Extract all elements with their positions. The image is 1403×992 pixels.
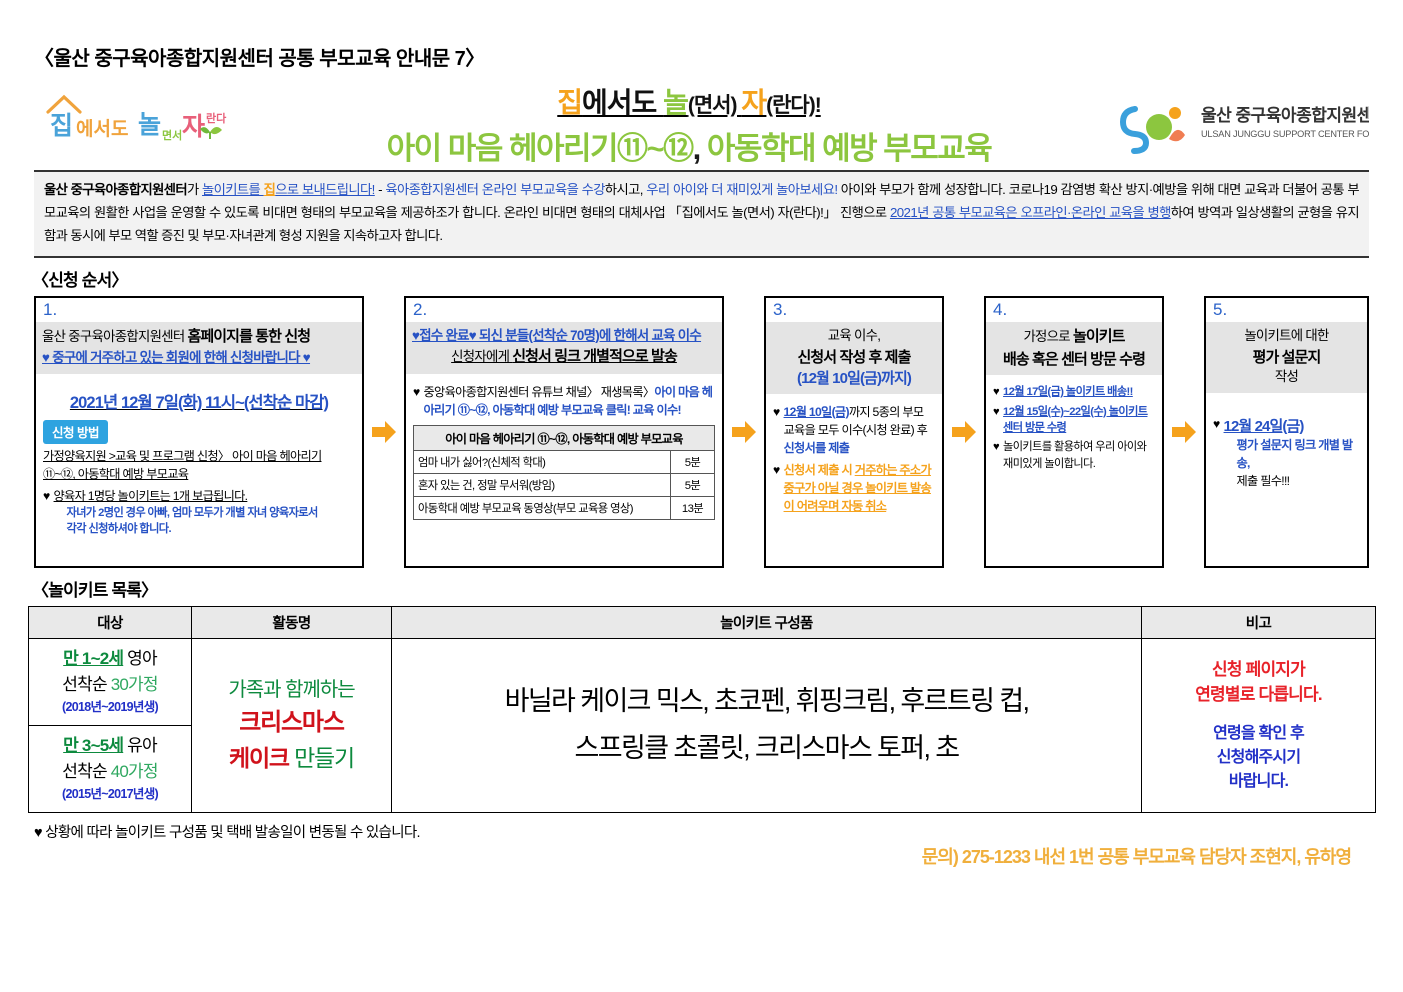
step-4-head-line1: 가정으로 놀이키트 — [992, 326, 1156, 349]
headline-line2: 아이 마음 헤아리기⑪~⑫, 아동학대 예방 부모교육 — [259, 123, 1119, 168]
step-1-number: 1. — [36, 298, 362, 322]
activity-line1: 가족과 함께하는 — [198, 675, 385, 705]
headline-home: 집 — [557, 87, 582, 118]
kit-components-cell: 바닐라 케이크 믹스, 초코펜, 휘핑크림, 후르트링 컵, 스프링클 초콜릿,… — [392, 638, 1142, 812]
activity-line3: 케이크 만들기 — [198, 741, 385, 776]
kit-col-notes: 비고 — [1142, 606, 1376, 638]
step-1-bullet-1-sub2: 각각 신청하셔야 합니다. — [54, 521, 355, 537]
footer: ♥ 상황에 따라 놀이키트 구성품 및 택배 발송일이 변동될 수 있습니다. … — [34, 821, 1369, 869]
main-title-block: 집에서도 놀(면서) 자(란다)! 아이 마음 헤아리기⑪~⑫, 아동학대 예방… — [249, 81, 1119, 168]
step-2: 2. ♥접수 완료♥ 되신 분들(선착순 70명)에 한해서 교육 이수 신청자… — [404, 296, 724, 568]
step-4-header: 가정으로 놀이키트 배송 혹은 센터 방문 수령 — [986, 322, 1162, 376]
intro-center-name: 울산 중구육아종합지원센터 — [44, 182, 187, 197]
step-4-bullet-3: ♥ 놀이키트를 활용하여 우리 아이와 재미있게 놀이합니다. — [993, 439, 1155, 471]
apply-method-badge: 신청 방법 — [43, 420, 108, 444]
svg-text:집: 집 — [50, 112, 73, 140]
note-blue-line1: 연령을 확인 후 — [1148, 722, 1369, 746]
svg-text:에서도: 에서도 — [76, 118, 128, 140]
heart-icon: ♥ — [413, 383, 420, 401]
document-page: 〈울산 중구육아종합지원센터 공통 부모교육 안내문 7〉 집 에서도 놀 면서… — [0, 0, 1403, 992]
step-2-number: 2. — [406, 298, 722, 322]
step-3-bullet-1: ♥ 12월 10일(금)까지 5종의 부모 교육을 모두 이수(시청 완료) 후… — [773, 403, 935, 458]
table-row: 아동학대 예방 부모교육 동영상(부모 교육용 영상) 13분 — [414, 496, 715, 519]
step-2-head-line2: 신청자에게 신청서 링크 개별적으로 발송 — [412, 346, 716, 369]
steps-row: 1. 울산 중구육아종합지원센터 홈페이지를 통한 신청 ♥ 중구에 거주하고 … — [34, 296, 1369, 568]
step-5-required-note: 제출 필수!!! — [1224, 472, 1360, 490]
step-3-header: 교육 이수, 신청서 작성 후 제출 (12월 10일(금)까지) — [766, 322, 942, 394]
intro-paragraph: 울산 중구육아종합지원센터가 놀이키트를 집으로 보내드립니다! - 육아종합지… — [34, 170, 1369, 258]
campaign-logo: 집 에서도 놀 면서 자 란다 — [34, 88, 249, 160]
svg-text:자: 자 — [182, 113, 205, 141]
step-4-body: ♥ 12월 17일(금) 놀이키트 배송!! ♥ 12월 15일(수)~22일(… — [986, 375, 1162, 566]
headline-topic-1: 아이 마음 헤아리기⑪~⑫ — [387, 131, 693, 166]
steps-heading: 〈신청 순서〉 — [32, 266, 1375, 291]
kit-components-line1: 바닐라 케이크 믹스, 초코펜, 휘핑크림, 후르트링 컵, — [400, 678, 1133, 725]
table-row: 만 1~2세 영아 선착순 30가정 (2018년~2019년생) 가족과 함께… — [29, 638, 1376, 725]
step-5-date: 12월 24일(금) — [1224, 418, 1304, 435]
step-2-header: ♥접수 완료♥ 되신 분들(선착순 70명)에 한해서 교육 이수 신청자에게 … — [406, 322, 722, 375]
heart-icon: ♥ — [43, 487, 50, 505]
step-5-number: 5. — [1206, 298, 1367, 322]
arrow-1-to-2 — [364, 296, 404, 568]
step-4: 4. 가정으로 놀이키트 배송 혹은 센터 방문 수령 ♥ 12월 17일(금)… — [984, 296, 1164, 568]
table-header-row: 아이 마음 헤아리기 ⑪~⑫, 아동학대 예방 부모교육 — [414, 425, 715, 450]
step-5-head-line1: 놀이키트에 대한 — [1212, 326, 1361, 346]
step-1-head-line2: ♥ 중구에 거주하고 있는 회원에 한해 신청바랍니다 ♥ — [42, 348, 356, 368]
arrow-4-to-5 — [1164, 296, 1204, 568]
kit-components-line2: 스프링클 초콜릿, 크리스마스 토퍼, 초 — [400, 725, 1133, 772]
heart-icon: ♥ — [993, 439, 999, 456]
step-5-head-line2: 평가 설문지 — [1212, 346, 1361, 367]
step-1-date: 2021년 12월 7일(화) 11시~(선착순 마감) — [43, 389, 355, 413]
activity-line2: 크리스마스 — [198, 705, 385, 741]
step-3-body: ♥ 12월 10일(금)까지 5종의 부모 교육을 모두 이수(시청 완료) 후… — [766, 394, 942, 566]
heart-icon: ♥ — [773, 403, 780, 421]
step-3-head-line2: 신청서 작성 후 제출 — [772, 346, 936, 367]
step-3-deadline: 12월 10일(금) — [784, 405, 849, 419]
age-2-quota: 40가정 — [111, 762, 158, 781]
step-1-head-line1: 울산 중구육아종합지원센터 홈페이지를 통한 신청 — [42, 326, 356, 349]
video-name: 엄마 내가 싫어?(신체적 학대) — [414, 450, 671, 473]
step-1-bullet-1: ♥ 양육자 1명당 놀이키트는 1개 보급됩니다. 자녀가 2명인 경우 아빠,… — [43, 487, 355, 538]
center-logo: 울산 중구육아종합지원센터 ULSAN JUNGGU SUPPORT CENTE… — [1119, 93, 1369, 155]
note-red-line2: 연령별로 다릅니다. — [1148, 682, 1369, 708]
logo-en-text: ULSAN JUNGGU SUPPORT CENTER FOR CHILDCAR… — [1201, 129, 1369, 139]
svg-text:란다: 란다 — [206, 111, 227, 125]
note-red-line1: 신청 페이지가 — [1148, 657, 1369, 683]
step-3-head-line1: 교육 이수, — [772, 326, 936, 346]
step-4-head-line2: 배송 혹은 센터 방문 수령 — [992, 348, 1156, 369]
headline-grow: 자 — [741, 87, 766, 118]
step-1-path-line1: 가정양육지원 >교육 및 프로그램 신청〉 아이 마음 헤아리기 — [43, 447, 355, 465]
headline-play: 놀 — [663, 87, 688, 118]
note-blue-line2: 신청해주시기 — [1148, 746, 1369, 770]
play-kit-table: 대상 활동명 놀이키트 구성품 비고 만 1~2세 영아 선착순 30가정 (2… — [28, 606, 1376, 813]
age-1-birthyears: (2018년~2019년생) — [33, 698, 187, 717]
video-duration: 5분 — [671, 473, 715, 496]
step-3-head-line3: (12월 10일(금)까지) — [772, 367, 936, 388]
step-1-bullet-1-sub1: 자녀가 2명인 경우 아빠, 엄마 모두가 개별 자녀 양육자로서 — [54, 505, 355, 521]
arrow-2-to-3 — [724, 296, 764, 568]
step-1: 1. 울산 중구육아종합지원센터 홈페이지를 통한 신청 ♥ 중구에 거주하고 … — [34, 296, 364, 568]
video-table-title: 아이 마음 헤아리기 ⑪~⑫, 아동학대 예방 부모교육 — [414, 425, 715, 450]
step-5-head-line3: 작성 — [1212, 367, 1361, 387]
page-title: 〈울산 중구육아종합지원센터 공통 부모교육 안내문 7〉 — [28, 0, 1375, 70]
step-4-bullet-1: ♥ 12월 17일(금) 놀이키트 배송!! — [993, 384, 1155, 401]
kit-col-activity: 활동명 — [192, 606, 392, 638]
logo-ko-text: 울산 중구육아종합지원센터 — [1201, 105, 1369, 125]
step-5-header: 놀이키트에 대한 평가 설문지 작성 — [1206, 322, 1367, 393]
table-row: 혼자 있는 건, 정말 무서워(방임) 5분 — [414, 473, 715, 496]
step-1-bullet-1-text: 양육자 1명당 놀이키트는 1개 보급됩니다. — [54, 489, 248, 503]
step-4-bullet-2: ♥ 12월 15일(수)~22일(수) 놀이키트 센터 방문 수령 — [993, 404, 1155, 436]
kit-table-header-row: 대상 활동명 놀이키트 구성품 비고 — [29, 606, 1376, 638]
video-duration: 5분 — [671, 450, 715, 473]
step-5-body: ♥ 12월 24일(금) 평가 설문지 링크 개별 발송, 제출 필수!!! — [1206, 393, 1367, 566]
step-2-bullet-1a: 중앙육아종합지원센터 유튜브 채널〉 재생목록〉 — [424, 385, 655, 399]
footer-contact: 문의) 275-1233 내선 1번 공통 부모교육 담당자 조현지, 유하영 — [922, 843, 1369, 869]
step-1-body: 2021년 12월 7일(화) 11시~(선착순 마감) 신청 방법 가정양육지… — [36, 374, 362, 565]
video-name: 혼자 있는 건, 정말 무서워(방임) — [414, 473, 671, 496]
activity-name-cell: 가족과 함께하는 크리스마스 케이크 만들기 — [192, 638, 392, 812]
step-3-bullet-2: ♥ 신청서 제출 시 거주하는 주소가 중구가 아닐 경우 놀이키트 발송이 어… — [773, 461, 935, 516]
step-5-bullet-1: ♥ 12월 24일(금) 평가 설문지 링크 개별 발송, 제출 필수!!! — [1213, 415, 1360, 491]
heart-icon: ♥ — [773, 461, 780, 479]
age-2-birthyears: (2015년~2017년생) — [33, 785, 187, 804]
svg-text:면서: 면서 — [162, 128, 182, 142]
step-2-bullet-1: ♥ 중앙육아종합지원센터 유튜브 채널〉 재생목록〉아이 마음 헤아리기 ⑪~⑫… — [413, 383, 715, 420]
kit-notes-cell: 신청 페이지가 연령별로 다릅니다. 연령을 확인 후 신청해주시기 바랍니다. — [1142, 638, 1376, 812]
arrow-3-to-4 — [944, 296, 984, 568]
step-3: 3. 교육 이수, 신청서 작성 후 제출 (12월 10일(금)까지) ♥ 1… — [764, 296, 944, 568]
heart-icon: ♥ — [993, 384, 999, 401]
step-2-head-line1: ♥접수 완료♥ 되신 분들(선착순 70명)에 한해서 교육 이수 — [412, 326, 716, 346]
age-1-range: 만 1~2세 — [63, 649, 123, 668]
step-5-survey-note: 평가 설문지 링크 개별 발송, — [1224, 436, 1360, 473]
video-name: 아동학대 예방 부모교육 동영상(부모 교육용 영상) — [414, 496, 671, 519]
step-5: 5. 놀이키트에 대한 평가 설문지 작성 ♥ 12월 24일(금) 평가 설문… — [1204, 296, 1369, 568]
headline-topic-2: 아동학대 예방 부모교육 — [707, 131, 991, 166]
headline-line1: 집에서도 놀(면서) 자(란다)! — [259, 81, 1119, 121]
note-blue-line3: 바랍니다. — [1148, 770, 1369, 794]
step-4-number: 4. — [986, 298, 1162, 322]
step-2-body: ♥ 중앙육아종합지원센터 유튜브 채널〉 재생목록〉아이 마음 헤아리기 ⑪~⑫… — [406, 374, 722, 565]
kit-col-target: 대상 — [29, 606, 192, 638]
age-2-range: 만 3~5세 — [63, 736, 123, 755]
kit-col-components: 놀이키트 구성품 — [392, 606, 1142, 638]
svg-text:놀: 놀 — [138, 111, 161, 139]
age-group-1: 만 1~2세 영아 선착순 30가정 (2018년~2019년생) — [29, 638, 192, 725]
heart-icon: ♥ — [1213, 415, 1220, 433]
education-video-table: 아이 마음 헤아리기 ⑪~⑫, 아동학대 예방 부모교육 엄마 내가 싫어?(신… — [413, 425, 715, 520]
video-duration: 13분 — [671, 496, 715, 519]
kit-heading: 〈놀이키트 목록〉 — [32, 576, 1375, 601]
table-row: 엄마 내가 싫어?(신체적 학대) 5분 — [414, 450, 715, 473]
age-1-quota: 30가정 — [111, 675, 158, 694]
age-group-2: 만 3~5세 유아 선착순 40가정 (2015년~2017년생) — [29, 725, 192, 812]
step-1-path-line2: ⑪~⑫, 아동학대 예방 부모교육 — [43, 465, 355, 483]
footer-note: ♥ 상황에 따라 놀이키트 구성품 및 택배 발송일이 변동될 수 있습니다. — [34, 821, 420, 842]
step-1-header: 울산 중구육아종합지원센터 홈페이지를 통한 신청 ♥ 중구에 거주하고 있는 … — [36, 322, 362, 375]
heart-icon: ♥ — [993, 404, 999, 421]
step-3-number: 3. — [766, 298, 942, 322]
header: 집 에서도 놀 면서 자 란다 집에서도 놀(면서) 자(란다)! 아이 마음 … — [28, 84, 1375, 164]
